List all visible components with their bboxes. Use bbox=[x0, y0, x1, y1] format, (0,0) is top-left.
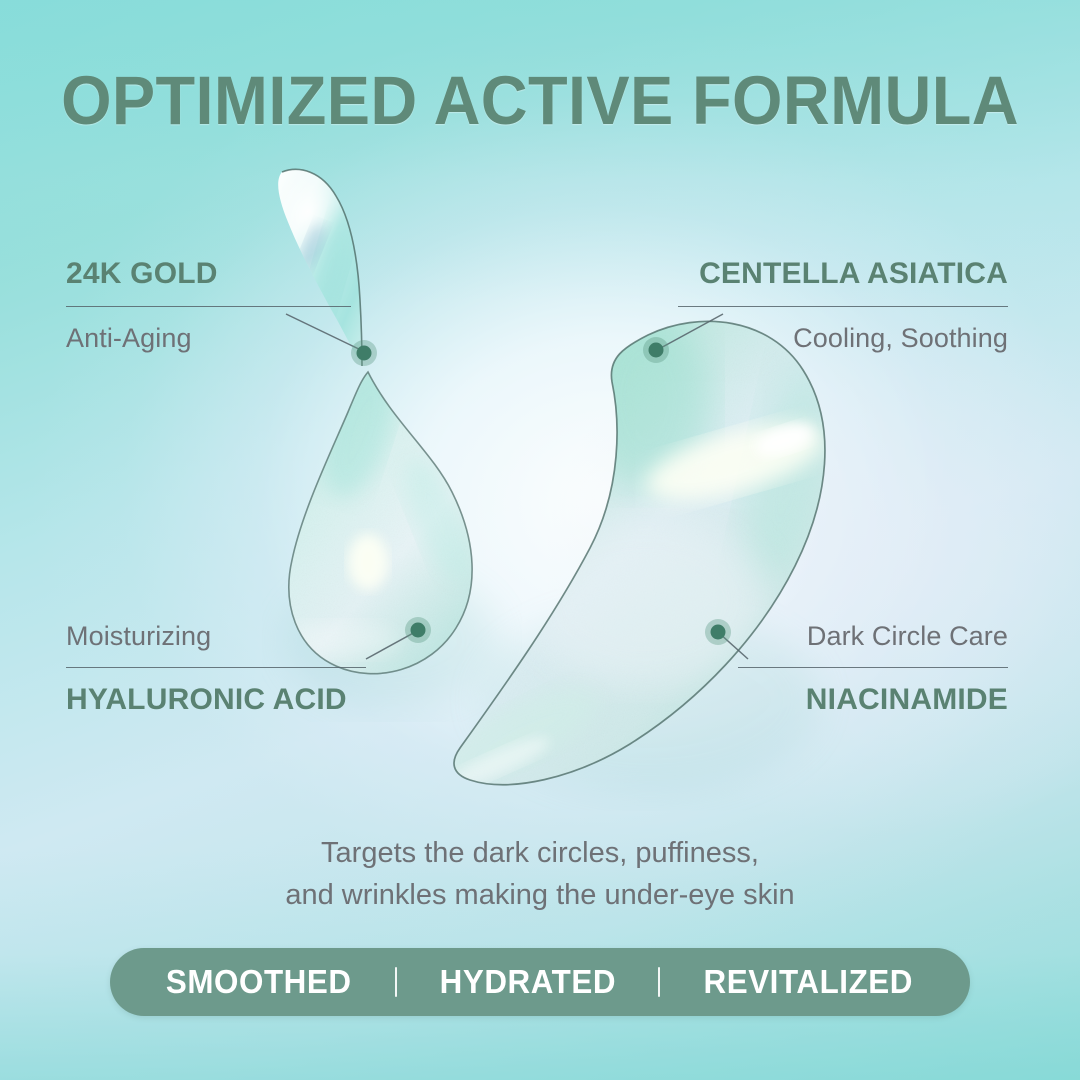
benefit-smoothed: SMOOTHED bbox=[166, 963, 352, 1001]
description-line-2: and wrinkles making the under-eye skin bbox=[0, 874, 1080, 916]
callout-name-24k-gold: 24K GOLD bbox=[66, 258, 351, 290]
callout-desc-hyaluronic-acid: Moisturizing bbox=[66, 622, 366, 650]
benefits-pill: SMOOTHED HYDRATED REVITALIZED bbox=[110, 948, 970, 1016]
callout-rule-24k-gold bbox=[66, 306, 351, 307]
benefit-revitalized: REVITALIZED bbox=[704, 963, 913, 1001]
infographic-canvas: OPTIMIZED ACTIVE FORMULA 24K GOLD Anti-A… bbox=[0, 0, 1080, 1080]
callout-rule-centella-asiatica bbox=[678, 306, 1008, 307]
callout-desc-24k-gold: Anti-Aging bbox=[66, 324, 351, 352]
pill-divider-2 bbox=[658, 967, 660, 997]
callout-rule-niacinamide bbox=[738, 667, 1008, 668]
callout-hyaluronic-acid: Moisturizing HYALURONIC ACID bbox=[66, 622, 366, 716]
callout-desc-centella-asiatica: Cooling, Soothing bbox=[678, 324, 1008, 352]
callout-name-niacinamide: NIACINAMIDE bbox=[738, 684, 1008, 716]
callout-rule-hyaluronic-acid bbox=[66, 667, 366, 668]
callout-desc-niacinamide: Dark Circle Care bbox=[738, 622, 1008, 650]
benefit-hydrated: HYDRATED bbox=[439, 963, 615, 1001]
page-title: OPTIMIZED ACTIVE FORMULA bbox=[32, 66, 1047, 135]
pill-divider-1 bbox=[395, 967, 397, 997]
callout-24k-gold: 24K GOLD Anti-Aging bbox=[66, 258, 351, 352]
callout-name-centella-asiatica: CENTELLA ASIATICA bbox=[678, 258, 1008, 290]
gua-sha-stones-illustration bbox=[0, 0, 1080, 1080]
description-paragraph: Targets the dark circles, puffiness, and… bbox=[0, 832, 1080, 916]
callout-niacinamide: Dark Circle Care NIACINAMIDE bbox=[738, 622, 1008, 716]
description-line-1: Targets the dark circles, puffiness, bbox=[0, 832, 1080, 874]
callout-centella-asiatica: CENTELLA ASIATICA Cooling, Soothing bbox=[678, 258, 1008, 352]
callout-name-hyaluronic-acid: HYALURONIC ACID bbox=[66, 684, 366, 716]
